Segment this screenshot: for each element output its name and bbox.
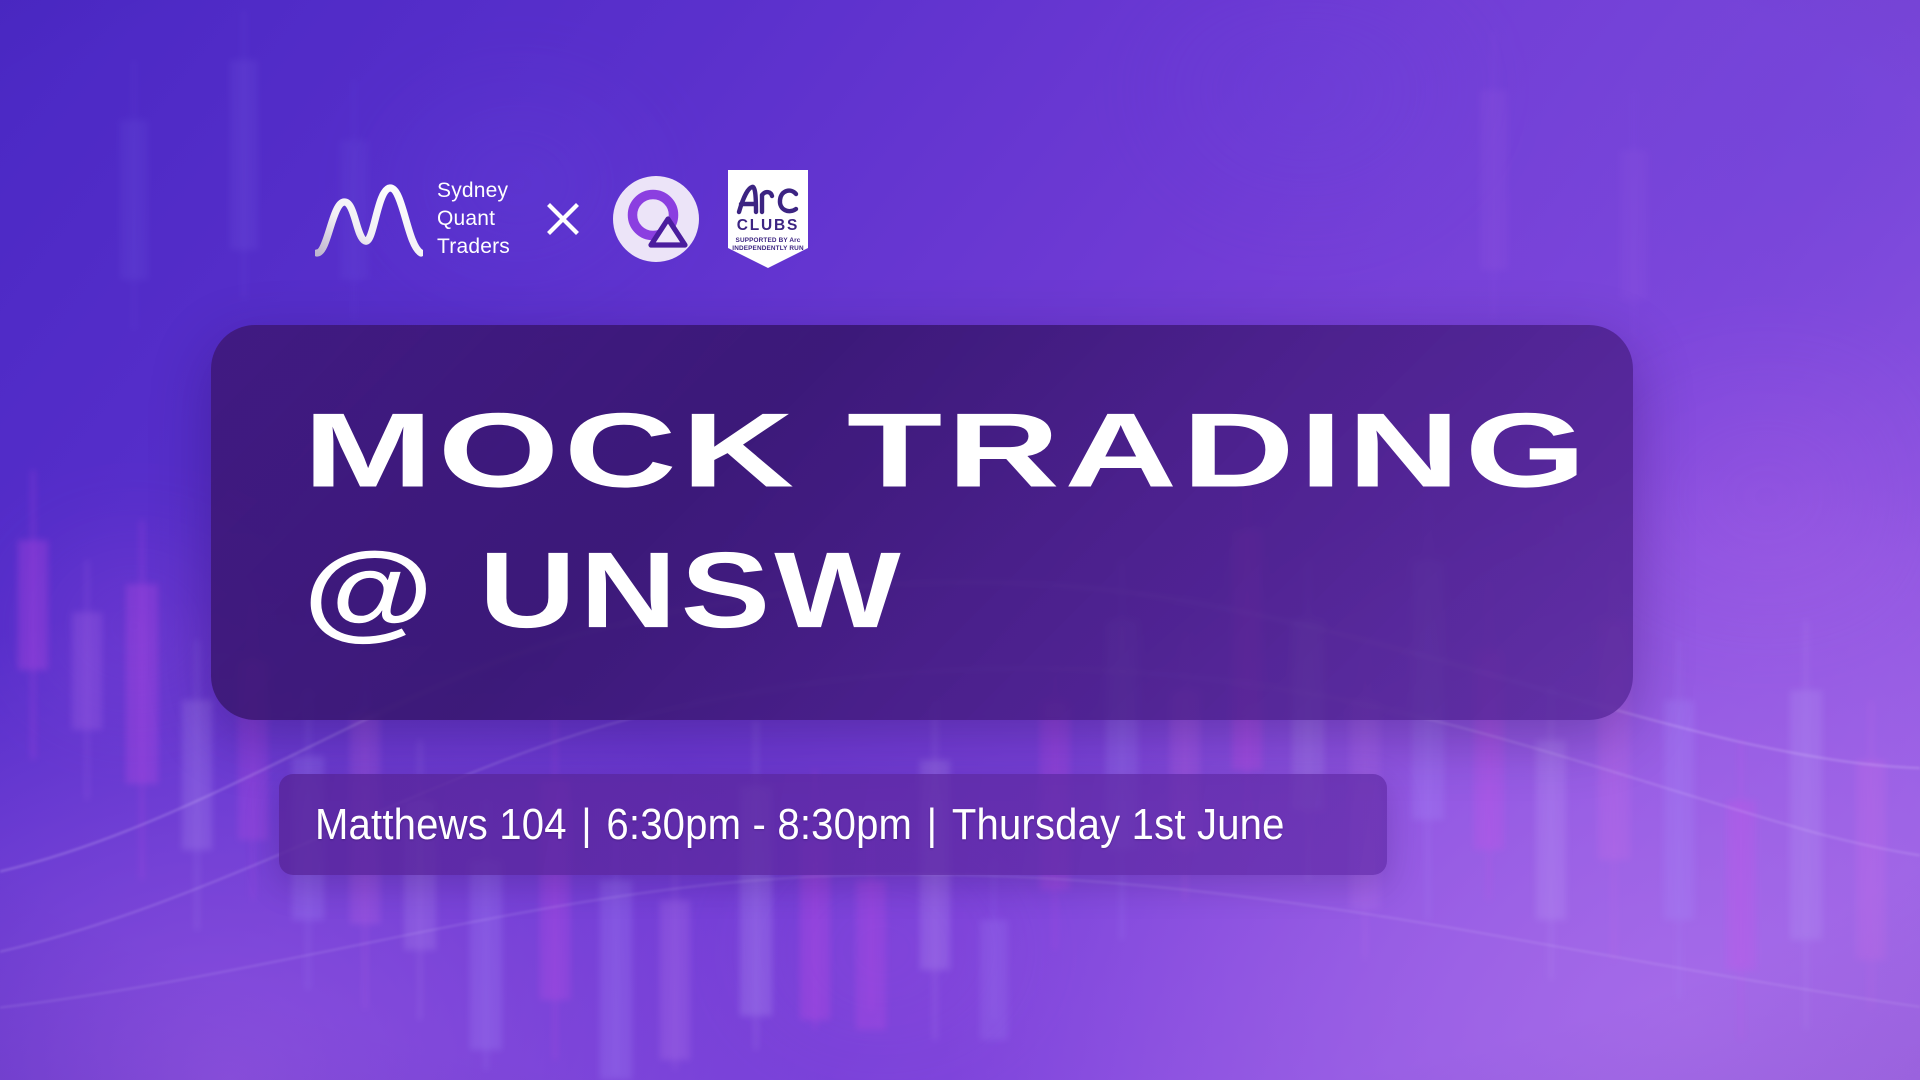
event-title-line-1: MOCK TRADING <box>303 399 1593 517</box>
event-venue: Matthews 104 <box>315 800 567 849</box>
quant-delta-circle-logo <box>612 175 700 263</box>
partner-logo-row: Sydney Quant Traders <box>315 168 810 270</box>
sydney-quant-traders-logo: Sydney Quant Traders <box>315 177 510 261</box>
event-title-line-2: @ UNSW <box>303 543 1593 653</box>
svg-text:MOCK TRADING: MOCK TRADING <box>303 399 1591 510</box>
event-details-text: Matthews 104|6:30pm - 8:30pm|Thursday 1s… <box>315 800 1285 850</box>
arc-clubs-tagline-1: SUPPORTED BY Arc <box>736 237 801 244</box>
arc-clubs-word: CLUBS <box>737 217 799 234</box>
event-date: Thursday 1st June <box>952 800 1285 849</box>
sqt-word-line3: Traders <box>437 233 510 261</box>
event-poster: Sydney Quant Traders <box>0 0 1920 1080</box>
event-details-bar: Matthews 104|6:30pm - 8:30pm|Thursday 1s… <box>279 774 1387 875</box>
svg-text:@ UNSW: @ UNSW <box>303 543 905 650</box>
event-time: 6:30pm - 8:30pm <box>606 800 912 849</box>
bell-curve-m-icon <box>315 179 423 259</box>
collaboration-x-icon <box>546 202 580 236</box>
arc-clubs-logo: CLUBS SUPPORTED BY Arc INDEPENDENTLY RUN <box>726 168 810 270</box>
event-title-card: MOCK TRADING @ UNSW <box>211 325 1633 720</box>
details-separator-1: | <box>567 800 607 849</box>
sqt-word-line2: Quant <box>437 205 510 233</box>
arc-clubs-tagline-2: INDEPENDENTLY RUN <box>732 245 804 252</box>
sqt-word-line1: Sydney <box>437 177 510 205</box>
sydney-quant-traders-wordmark: Sydney Quant Traders <box>437 177 510 261</box>
details-separator-2: | <box>912 800 952 849</box>
